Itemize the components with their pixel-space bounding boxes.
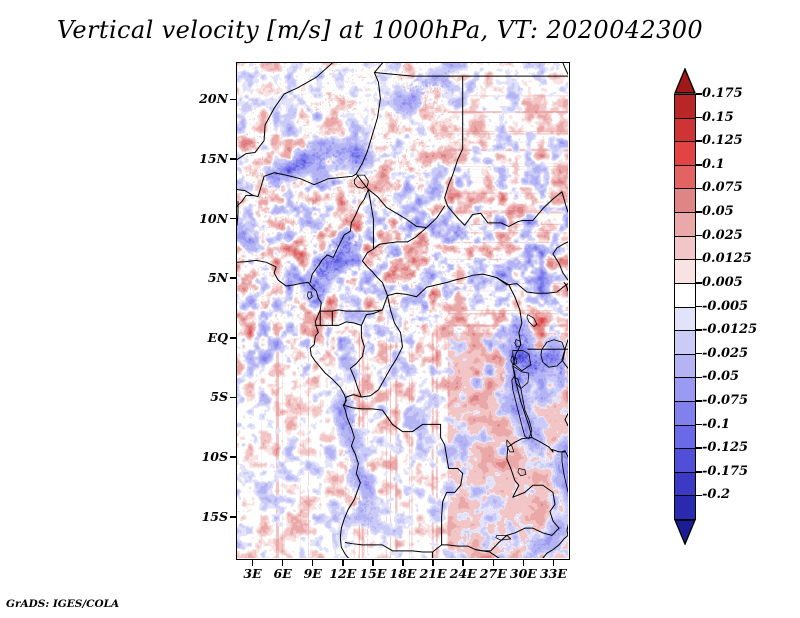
colorbar-bottom-arrow — [674, 519, 696, 545]
x-tick-mark — [523, 560, 525, 566]
colorbar-band — [674, 448, 696, 473]
colorbar-band — [674, 425, 696, 450]
colorbar-band — [674, 141, 696, 166]
y-tick-mark — [230, 218, 236, 220]
x-tick-mark — [252, 560, 254, 566]
colorbar-label: 0.15 — [702, 110, 734, 125]
colorbar-band — [674, 259, 696, 284]
y-tick-label: 5S — [180, 389, 228, 404]
colorbar-label: -0.1 — [702, 417, 730, 432]
colorbar-label: -0.2 — [702, 487, 730, 502]
colorbar-label: 0.0125 — [702, 251, 752, 266]
y-tick-mark — [230, 337, 236, 339]
colorbar-tick — [696, 495, 702, 497]
colorbar-band — [674, 283, 696, 308]
colorbar-band — [674, 118, 696, 143]
colorbar-label: -0.05 — [702, 369, 739, 384]
colorbar-band — [674, 354, 696, 379]
colorbar-label: 0.005 — [702, 275, 743, 290]
colorbar-tick — [696, 329, 702, 331]
colorbar-band — [674, 212, 696, 237]
colorbar-label: 0.125 — [702, 133, 743, 148]
y-tick-label: EQ — [180, 330, 228, 345]
colorbar-label: -0.025 — [702, 346, 748, 361]
y-tick-label: 15S — [180, 509, 228, 524]
map-plot-area[interactable] — [236, 62, 570, 560]
y-tick-mark — [230, 397, 236, 399]
x-tick-label: 33E — [529, 566, 577, 581]
x-tick-mark — [282, 560, 284, 566]
y-tick-label: 5N — [180, 270, 228, 285]
colorbar-band — [674, 307, 696, 332]
colorbar-tick — [696, 140, 702, 142]
colorbar-tick — [696, 377, 702, 379]
colorbar-label: -0.075 — [702, 393, 748, 408]
colorbar-band — [674, 401, 696, 426]
colorbar-label: -0.005 — [702, 299, 748, 314]
colorbar-tick — [696, 211, 702, 213]
colorbar-label: 0.05 — [702, 204, 734, 219]
colorbar-tick — [696, 235, 702, 237]
y-tick-mark — [230, 516, 236, 518]
colorbar-tick — [696, 353, 702, 355]
x-tick-mark — [342, 560, 344, 566]
y-tick-mark — [230, 277, 236, 279]
colorbar-top-arrow — [674, 68, 696, 94]
y-tick-label: 10S — [180, 449, 228, 464]
colorbar-tick — [696, 117, 702, 119]
grads-figure: Vertical velocity [m/s] at 1000hPa, VT: … — [0, 0, 800, 618]
colorbar-tick — [696, 188, 702, 190]
y-tick-label: 15N — [180, 151, 228, 166]
colorbar-label: 0.075 — [702, 180, 743, 195]
y-tick-mark — [230, 456, 236, 458]
vertical-velocity-field — [237, 63, 568, 558]
colorbar-label: 0.1 — [702, 157, 725, 172]
page-title: Vertical velocity [m/s] at 1000hPa, VT: … — [0, 16, 760, 44]
x-tick-mark — [432, 560, 434, 566]
colorbar-tick — [696, 447, 702, 449]
colorbar-tick — [696, 93, 702, 95]
colorbar-band — [674, 236, 696, 261]
colorbar-tick — [696, 164, 702, 166]
colorbar-band — [674, 472, 696, 497]
x-tick-mark — [462, 560, 464, 566]
x-tick-mark — [553, 560, 555, 566]
colorbar-tick — [696, 424, 702, 426]
colorbar-band — [674, 377, 696, 402]
colorbar-tick — [696, 471, 702, 473]
y-tick-mark — [230, 99, 236, 101]
colorbar-band — [674, 330, 696, 355]
colorbar-label: 0.175 — [702, 86, 743, 101]
colorbar-label: 0.025 — [702, 228, 743, 243]
colorbar-band — [674, 495, 696, 520]
x-tick-mark — [402, 560, 404, 566]
colorbar-band — [674, 94, 696, 119]
colorbar-tick — [696, 259, 702, 261]
x-tick-mark — [312, 560, 314, 566]
colorbar-tick — [696, 282, 702, 284]
colorbar-label: -0.0125 — [702, 322, 757, 337]
attribution-footer: GrADS: IGES/COLA — [6, 598, 119, 610]
colorbar-band — [674, 188, 696, 213]
y-tick-label: 10N — [180, 211, 228, 226]
x-tick-mark — [493, 560, 495, 566]
y-tick-label: 20N — [180, 91, 228, 106]
colorbar-band — [674, 165, 696, 190]
y-tick-mark — [230, 158, 236, 160]
colorbar-tick — [696, 400, 702, 402]
colorbar-label: -0.125 — [702, 440, 748, 455]
x-tick-mark — [372, 560, 374, 566]
colorbar-label: -0.175 — [702, 464, 748, 479]
colorbar-tick — [696, 306, 702, 308]
